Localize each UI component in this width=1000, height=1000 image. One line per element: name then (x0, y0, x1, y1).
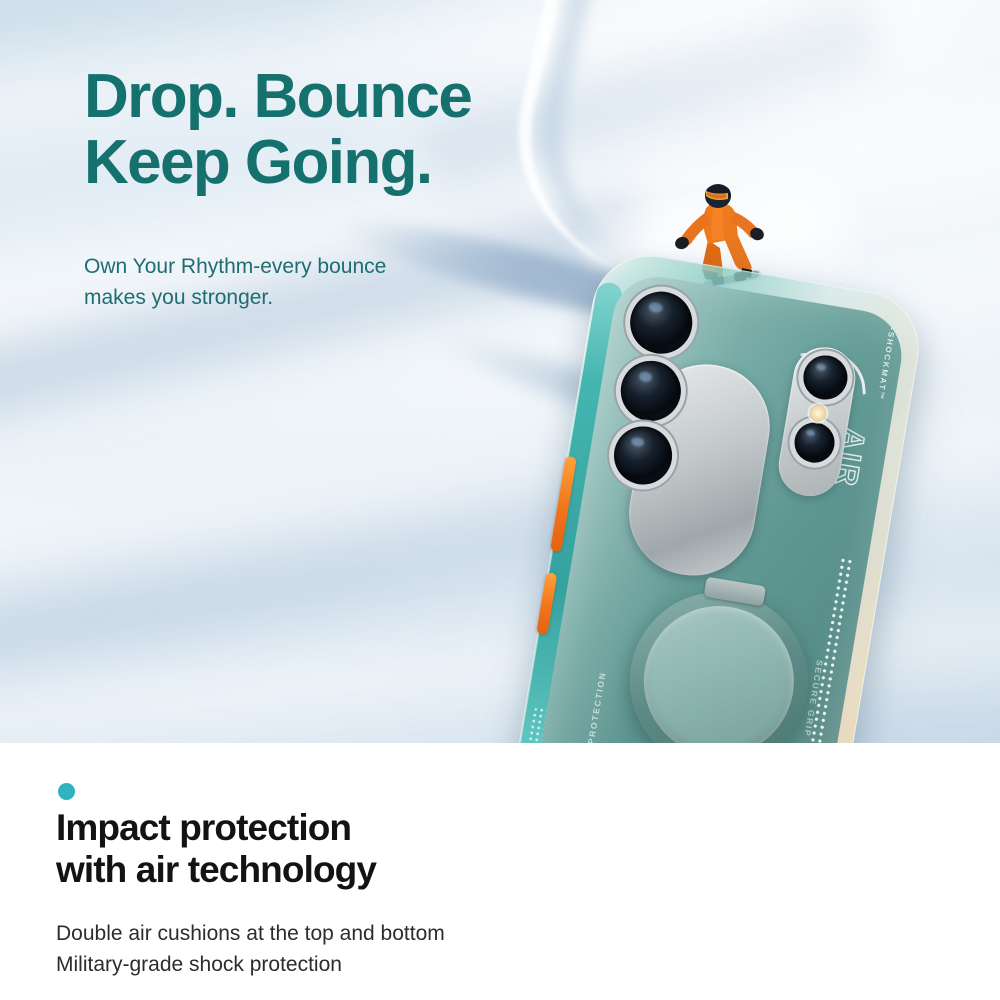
feature-title: Impact protection with air technology (56, 807, 576, 891)
feature-section: Impact protection with air technology Do… (0, 743, 1000, 1000)
accent-dot-icon (58, 783, 75, 800)
hero-photo-snow-slope: Drop. Bounce Keep Going. Own Your Rhythm… (0, 0, 1000, 743)
product-phone-with-case: TORRAS TORA-SHOCKMAT™ LIGHT WEIGHT PROTE… (493, 247, 957, 743)
hero-headline: Drop. Bounce Keep Going. (84, 64, 644, 195)
hero-subheadline: Own Your Rhythm-every bounce makes you s… (84, 252, 504, 313)
ring-magnetic-pad (633, 595, 806, 743)
marketing-banner: Drop. Bounce Keep Going. Own Your Rhythm… (0, 0, 1000, 1000)
feature-description: Double air cushions at the top and botto… (56, 918, 616, 980)
